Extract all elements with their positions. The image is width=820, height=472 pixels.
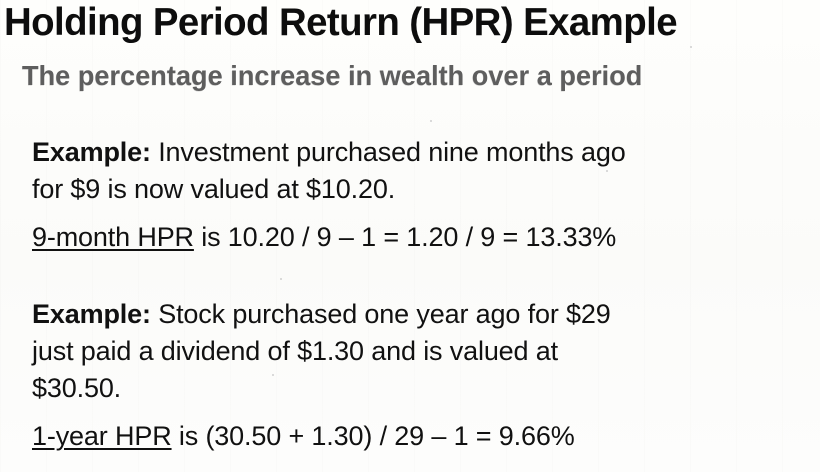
example-two-text-two: just paid a dividend of $1.30 and is val… bbox=[32, 336, 558, 366]
example-two-line-one: Example: Stock purchased one year ago fo… bbox=[32, 296, 812, 333]
example-two-hpr-label: 1-year HPR bbox=[32, 421, 172, 451]
example-two-text-one: Stock purchased one year ago for $29 bbox=[151, 299, 611, 329]
example-two-label: Example: bbox=[32, 299, 151, 329]
example-two-hpr-line: 1-year HPR is (30.50 + 1.30) / 29 – 1 = … bbox=[32, 418, 812, 455]
example-two-hpr-formula: is (30.50 + 1.30) / 29 – 1 = 9.66% bbox=[172, 421, 575, 451]
example-one-line-one: Example: Investment purchased nine month… bbox=[32, 134, 812, 171]
page-title: Holding Period Return (HPR) Example bbox=[4, 0, 808, 46]
slide-subtitle: The percentage increase in wealth over a… bbox=[22, 58, 788, 94]
example-block-two: Example: Stock purchased one year ago fo… bbox=[32, 296, 812, 455]
example-one-hpr-formula: is 10.20 / 9 – 1 = 1.20 / 9 = 13.33% bbox=[194, 222, 616, 252]
slide-canvas: Holding Period Return (HPR) Example The … bbox=[0, 0, 820, 472]
scan-speck bbox=[690, 46, 692, 48]
scan-speck bbox=[280, 278, 282, 280]
example-one-text-two: for $9 is now valued at $10.20. bbox=[32, 174, 395, 204]
example-one-hpr-label: 9-month HPR bbox=[32, 222, 194, 252]
example-one-hpr-line: 9-month HPR is 10.20 / 9 – 1 = 1.20 / 9 … bbox=[32, 219, 812, 256]
example-block-one: Example: Investment purchased nine month… bbox=[32, 134, 812, 256]
example-one-text-one: Investment purchased nine months ago bbox=[151, 137, 626, 167]
example-two-line-two: just paid a dividend of $1.30 and is val… bbox=[32, 333, 812, 370]
scan-speck bbox=[430, 120, 432, 122]
example-one-label: Example: bbox=[32, 137, 151, 167]
example-two-text-three: $30.50. bbox=[32, 373, 121, 403]
example-two-line-three: $30.50. bbox=[32, 370, 812, 407]
example-one-line-two: for $9 is now valued at $10.20. bbox=[32, 171, 812, 208]
